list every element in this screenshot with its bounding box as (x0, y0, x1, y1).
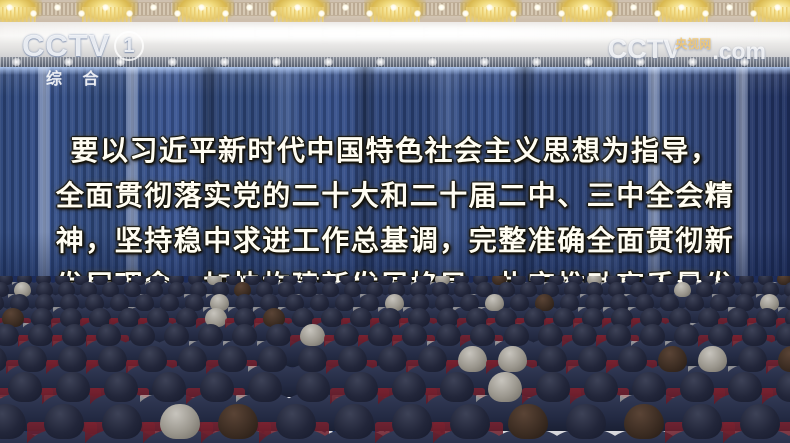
audience-member (248, 372, 282, 402)
audience-member (18, 346, 47, 372)
ceiling-spotlight (126, 10, 133, 17)
hall-ceiling (0, 0, 790, 23)
audience-member (0, 404, 26, 439)
audience-member (102, 404, 142, 439)
ceiling-spotlight (510, 10, 517, 17)
audience-member (698, 346, 727, 372)
ceiling-spotlight (558, 10, 565, 17)
audience-member (200, 372, 234, 402)
audience-row (0, 404, 790, 443)
wall-spotlight (688, 58, 697, 66)
audience-member (8, 372, 42, 402)
ceiling-spotlight (414, 10, 421, 17)
audience-member (778, 346, 790, 372)
ceiling-spotlight (342, 4, 349, 11)
audience-member (334, 404, 374, 439)
audience-member (450, 404, 490, 439)
wall-spotlight (324, 58, 333, 66)
audience-member (508, 404, 548, 439)
audience-member (402, 324, 427, 346)
audience-member (338, 346, 367, 372)
curtain-top-glow (0, 67, 790, 75)
audience-member (28, 324, 53, 346)
ceiling-spotlight (486, 4, 493, 11)
audience-member (368, 324, 393, 346)
audience-member (104, 372, 138, 402)
audience-member (470, 324, 495, 346)
audience-member (232, 324, 257, 346)
ceiling-spotlight (246, 4, 253, 11)
audience-member (138, 346, 167, 372)
audience-member (504, 324, 529, 346)
audience-member (218, 346, 247, 372)
ceiling-spotlight (30, 10, 37, 17)
audience-member (62, 324, 87, 346)
wall-spotlight (116, 58, 125, 66)
audience-member (606, 324, 631, 346)
wall-spotlight (272, 58, 281, 66)
ceiling-spotlight (6, 4, 13, 11)
audience-member (334, 324, 359, 346)
ceiling-spotlight (150, 4, 157, 11)
audience-member (740, 404, 780, 439)
wall-spotlight (532, 58, 541, 66)
audience-member (458, 346, 487, 372)
ceiling-spotlight (774, 4, 781, 11)
audience-member (708, 324, 733, 346)
audience-member (164, 324, 189, 346)
ceiling-spotlight (78, 10, 85, 17)
audience-member (776, 324, 790, 346)
ceiling-spotlight (366, 10, 373, 17)
audience-member (178, 346, 207, 372)
audience-member (674, 324, 699, 346)
ceiling-spotlight (102, 4, 109, 11)
audience-member (276, 404, 316, 439)
ceiling-spotlight (198, 4, 205, 11)
ceiling-spotlight (438, 4, 445, 11)
broadcast-frame: CCTV 1 综 合 CCTV 央视网 .com 要以习近平新时代中国特色社会主… (0, 0, 790, 443)
audience-member (440, 372, 474, 402)
audience-member (658, 346, 687, 372)
ceiling-spotlight (318, 10, 325, 17)
audience-member (392, 372, 426, 402)
audience-member (498, 346, 527, 372)
audience-member (344, 372, 378, 402)
ceiling-spotlight (582, 4, 589, 11)
wall-spotlight (376, 58, 385, 66)
wall-spotlight (64, 58, 73, 66)
ceiling-spotlight (606, 10, 613, 17)
wall-spotlight (428, 58, 437, 66)
wall-spotlight (584, 58, 593, 66)
audience-member (632, 372, 666, 402)
audience-member (300, 324, 325, 346)
audience-member (56, 372, 90, 402)
ceiling-spotlight (222, 10, 229, 17)
ceiling-spotlight (294, 4, 301, 11)
ceiling-spotlight (726, 4, 733, 11)
audience-member (680, 372, 714, 402)
ceiling-spotlight (534, 4, 541, 11)
wall-spotlight (636, 58, 645, 66)
audience-member (538, 346, 567, 372)
wall-spotlight (740, 58, 749, 66)
ceiling-spotlight (702, 10, 709, 17)
ceiling-spotlight (750, 10, 757, 17)
audience-member (640, 324, 665, 346)
wall-spotlight (220, 58, 229, 66)
audience-member (44, 404, 84, 439)
audience-member (488, 372, 522, 402)
ceiling-spotlight (654, 10, 661, 17)
audience-member (298, 346, 327, 372)
audience-member (578, 346, 607, 372)
audience-member (266, 324, 291, 346)
audience-member (738, 346, 767, 372)
ceiling-spotlight (462, 10, 469, 17)
audience-member (584, 372, 618, 402)
wall-spotlight (168, 58, 177, 66)
audience-member (618, 346, 647, 372)
audience-member (682, 404, 722, 439)
audience-member (160, 404, 200, 439)
ceiling-spotlight (270, 10, 277, 17)
seated-audience (0, 276, 790, 443)
ceiling-spotlight (390, 4, 397, 11)
audience-member (58, 346, 87, 372)
audience-member (98, 346, 127, 372)
audience-member (258, 346, 287, 372)
audience-member (218, 404, 258, 439)
audience-member (392, 404, 432, 439)
wall-spotlight (12, 58, 21, 66)
audience-member (378, 346, 407, 372)
audience-member (96, 324, 121, 346)
audience-member (0, 324, 19, 346)
audience-member (742, 324, 767, 346)
audience-member (198, 324, 223, 346)
audience-member (566, 404, 606, 439)
wall-light-reflection (0, 26, 790, 40)
wall-spotlight (480, 58, 489, 66)
audience-member (536, 372, 570, 402)
audience-member (436, 324, 461, 346)
audience-member (538, 324, 563, 346)
audience-member (728, 372, 762, 402)
ceiling-spotlight (678, 4, 685, 11)
audience-member (296, 372, 330, 402)
ceiling-spotlight (630, 4, 637, 11)
audience-member (152, 372, 186, 402)
audience-member (572, 324, 597, 346)
ceiling-spotlight (54, 4, 61, 11)
audience-member (624, 404, 664, 439)
ceiling-spotlight (174, 10, 181, 17)
audience-member (418, 346, 447, 372)
audience-member (130, 324, 155, 346)
